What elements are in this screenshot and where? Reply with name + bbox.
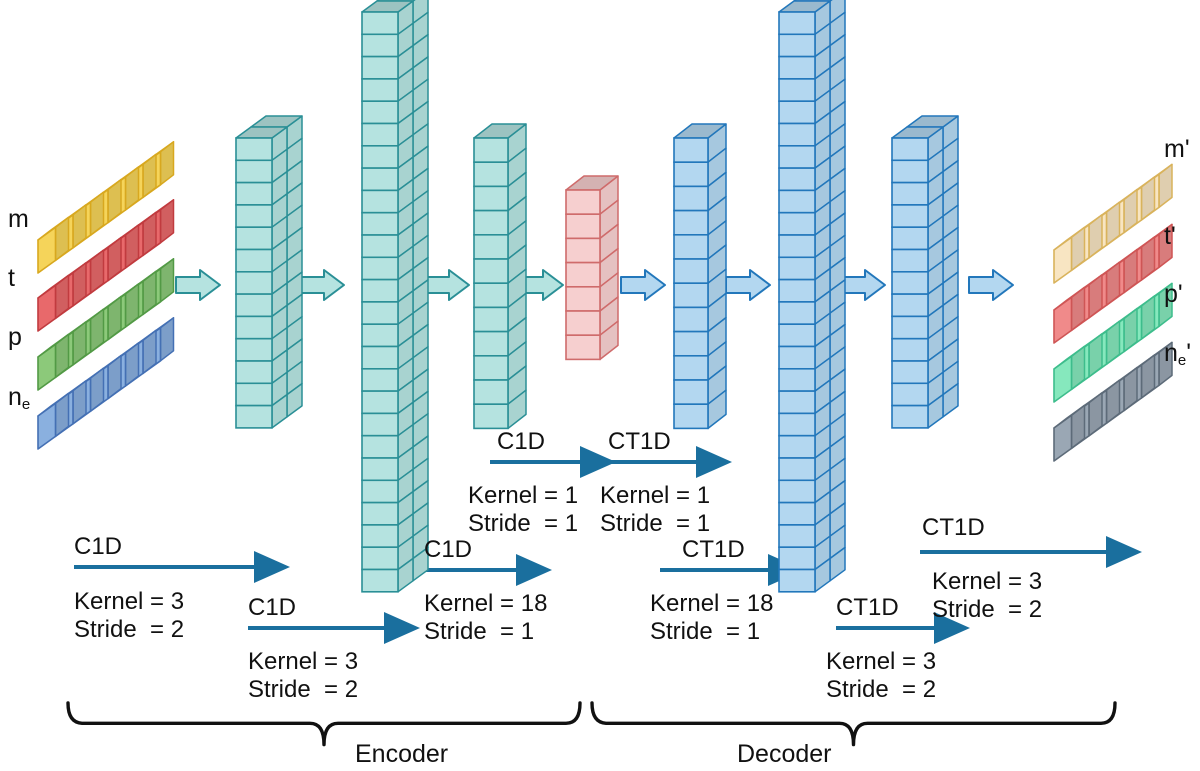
op-type-op7: CT1D — [836, 594, 899, 622]
section-label-encoder: Encoder — [355, 740, 448, 769]
op-params-op4: Kernel = 1Stride = 1 — [468, 482, 578, 539]
op-params-op5: Kernel = 1Stride = 1 — [600, 482, 710, 539]
output-bar-ne-cell-front — [1054, 415, 1072, 461]
diagram-canvas: mtpnem't'p'ne'C1DKernel = 3Stride = 2C1D… — [0, 0, 1200, 771]
op-type-op5: CT1D — [608, 428, 671, 456]
op-type-op6: CT1D — [682, 536, 745, 564]
op-type-op2: C1D — [248, 594, 296, 622]
op-params-op7: Kernel = 3Stride = 2 — [826, 648, 936, 705]
output-label-4: ne' — [1164, 341, 1191, 366]
output-label-2: t' — [1164, 224, 1176, 249]
op-type-op4: C1D — [497, 428, 545, 456]
input-label-2: t — [8, 266, 15, 291]
op-type-op3: C1D — [424, 536, 472, 564]
input-label-1: m — [8, 207, 29, 232]
op-params-op6: Kernel = 18Stride = 1 — [650, 590, 773, 647]
output-bar-ne-cell-side — [1072, 405, 1085, 448]
output-label-1: m' — [1164, 137, 1190, 162]
output-bar-ne-cell-side — [1142, 355, 1155, 398]
op-params-op2: Kernel = 3Stride = 2 — [248, 648, 358, 705]
input-label-4: ne — [8, 385, 30, 410]
op-type-op1: C1D — [74, 533, 122, 561]
output-bar-ne-cell-side — [1124, 368, 1137, 411]
output-bar-ne-geometry — [0, 0, 1200, 771]
op-params-op1: Kernel = 3Stride = 2 — [74, 588, 184, 645]
output-bar-ne-cell-side — [1107, 380, 1120, 423]
op-type-op8: CT1D — [922, 514, 985, 542]
op-params-op3: Kernel = 18Stride = 1 — [424, 590, 547, 647]
section-label-decoder: Decoder — [737, 740, 832, 769]
output-label-3: p' — [1164, 282, 1183, 307]
input-label-3: p — [8, 325, 22, 350]
output-bar-ne-cell-side — [1089, 393, 1102, 436]
op-params-op8: Kernel = 3Stride = 2 — [932, 568, 1042, 625]
